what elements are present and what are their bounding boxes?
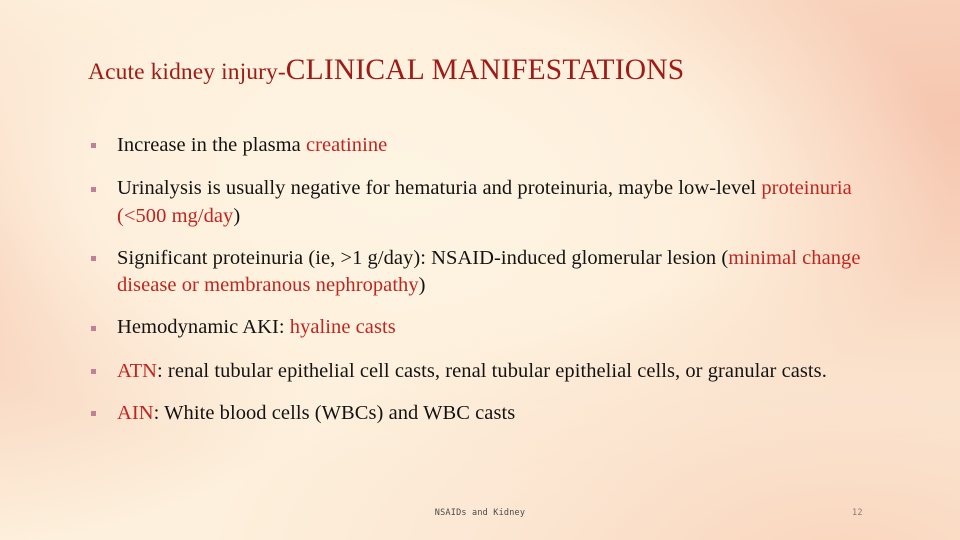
bullet-hemodynamic-aki: Hemodynamic AKI: hyaline casts [88,314,898,341]
bullet-significant-proteinuria: Significant proteinuria (ie, >1 g/day): … [88,245,898,300]
bullet-atn: ATN: renal tubular epithelial cell casts… [88,358,898,385]
text-segment: : White blood cells (WBCs) and WBC casts [154,402,516,424]
text-segment: ) [233,205,240,227]
slide-canvas: Acute kidney injury-CLINICAL MANIFESTATI… [0,0,960,540]
text-segment-red: ATN [117,360,157,382]
title-lead: Acute kidney injury- [88,59,286,85]
bullet-significant-proteinuria-text: Significant proteinuria (ie, >1 g/day): … [117,247,860,296]
text-segment: Hemodynamic AKI: [117,316,290,338]
text-segment: Increase in the plasma [117,134,306,156]
text-segment-red: creatinine [306,134,387,156]
page-number: 12 [852,508,863,518]
bullet-hemodynamic-aki-text: Hemodynamic AKI: hyaline casts [117,316,396,338]
title-main: CLINICAL MANIFESTATIONS [286,54,685,86]
bullet-marker-icon [91,411,96,416]
bullet-list: Increase in the plasma creatinine Urinal… [88,132,898,427]
bullet-marker-icon [91,369,96,374]
text-segment: Significant proteinuria (ie, >1 g/day): … [117,247,728,269]
slide-content: Acute kidney injury-CLINICAL MANIFESTATI… [0,0,960,540]
bullet-marker-icon [91,326,96,331]
bullet-marker-icon [91,256,96,261]
bullet-urinalysis-text: Urinalysis is usually negative for hemat… [117,177,852,226]
bullet-atn-text: ATN: renal tubular epithelial cell casts… [117,360,827,382]
text-segment-red: AIN [117,402,154,424]
footer-note: NSAIDs and Kidney [0,508,960,518]
text-segment: ) [419,274,426,296]
bullet-urinalysis: Urinalysis is usually negative for hemat… [88,175,898,230]
text-segment: : renal tubular epithelial cell casts, r… [157,360,827,382]
bullet-ain-text: AIN: White blood cells (WBCs) and WBC ca… [117,402,515,424]
text-segment-red: hyaline casts [290,316,396,338]
bullet-ain: AIN: White blood cells (WBCs) and WBC ca… [88,400,898,427]
bullet-creatinine: Increase in the plasma creatinine [88,132,898,159]
slide-title: Acute kidney injury-CLINICAL MANIFESTATI… [88,54,888,87]
bullet-creatinine-text: Increase in the plasma creatinine [117,134,387,156]
bullet-marker-icon [91,187,96,192]
text-segment: Urinalysis is usually negative for hemat… [117,177,761,199]
bullet-marker-icon [91,143,96,148]
